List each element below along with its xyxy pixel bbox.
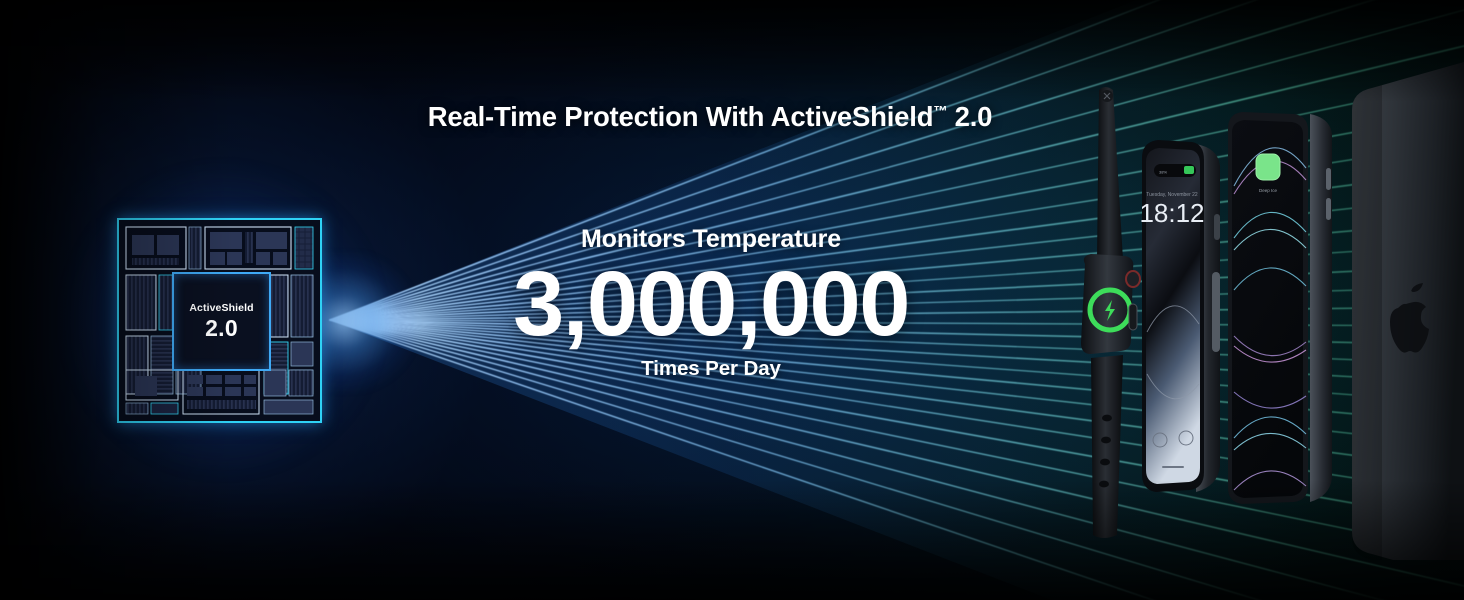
svg-text:38%: 38% <box>1159 170 1167 175</box>
chip-label-text: ActiveShield <box>189 303 253 314</box>
chip-version-text: 2.0 <box>205 317 238 340</box>
tablet: Deep Ice <box>1218 108 1346 520</box>
promo-banner: ActiveShield 2.0 <box>0 0 1464 600</box>
activeshield-chip: ActiveShield 2.0 <box>117 218 322 423</box>
phone-lock-time: 18:12 <box>1139 198 1204 228</box>
laptop <box>1336 40 1464 560</box>
svg-text:Deep Ice: Deep Ice <box>1259 188 1278 193</box>
chip-core-label: ActiveShield 2.0 <box>172 272 271 371</box>
tablet-app-icon <box>1256 154 1280 180</box>
